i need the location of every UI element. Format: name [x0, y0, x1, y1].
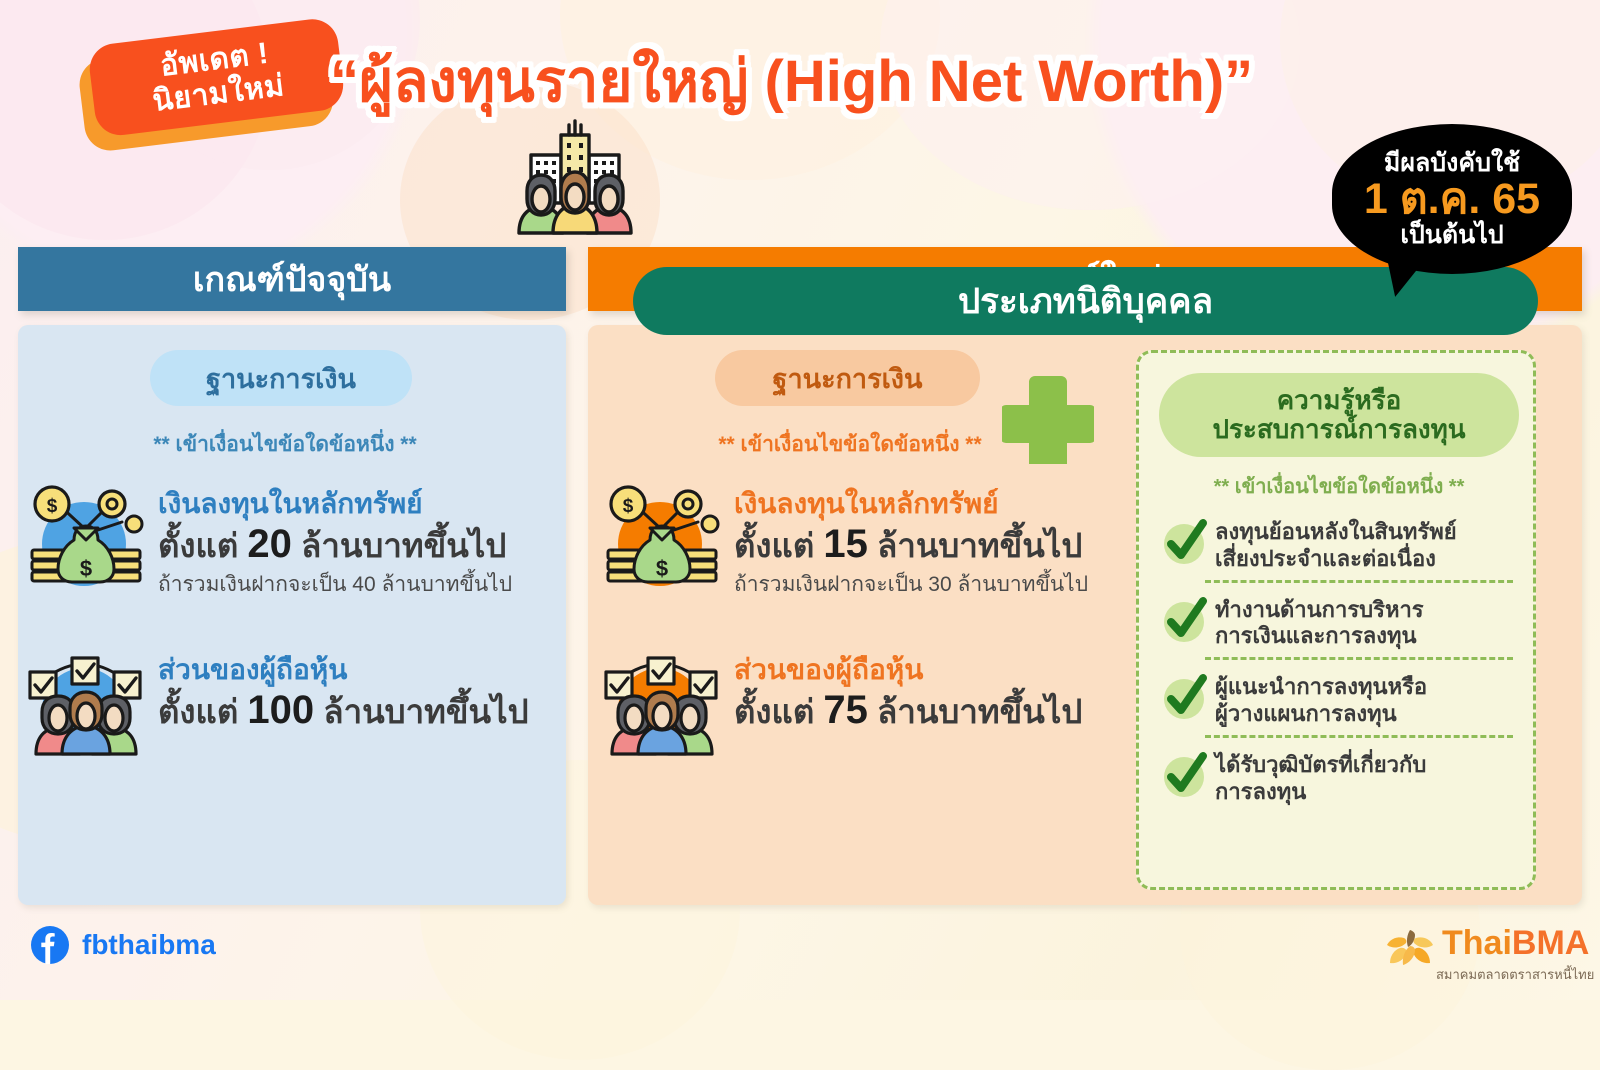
plus-icon — [1002, 372, 1094, 464]
list-item-text: ได้รับวุฒิบัตรที่เกี่ยวกับ การลงทุน — [1215, 747, 1426, 806]
list-item-line-2: การเงินและการลงทุน — [1215, 623, 1424, 650]
criterion-amount: ตั้งแต่ 20 ล้านบาทขึ้นไป — [158, 521, 512, 568]
money-bag-coins-icon: $ $ — [22, 482, 150, 592]
amount-prefix: ตั้งแต่ — [734, 527, 814, 564]
list-item-line-1: ลงทุนย้อนหลังในสินทรัพย์ — [1215, 519, 1457, 546]
knowledge-list: ลงทุนย้อนหลังในสินทรัพย์ เสี่ยงประจำและต… — [1157, 508, 1523, 810]
amount-number: 75 — [823, 688, 868, 732]
check-icon — [1157, 514, 1215, 570]
current-criteria-header: เกณฑ์ปัจจุบัน — [18, 247, 566, 311]
current-criterion-shareholders: ส่วนของผู้ถือหุ้น ตั้งแต่ 100 ล้านบาทขึ้… — [22, 648, 529, 758]
brand-name-part-1: Thai — [1442, 924, 1512, 962]
svg-text:$: $ — [656, 556, 668, 581]
current-criteria-panel — [18, 325, 566, 905]
facebook-icon[interactable] — [30, 925, 70, 965]
list-item-line-1: ได้รับวุฒิบัตรที่เกี่ยวกับ — [1215, 752, 1426, 779]
list-item-line-2: ผู้วางแผนการลงทุน — [1215, 701, 1427, 728]
knowledge-condition-note: ** เข้าเงื่อนไขข้อใดข้อหนึ่ง ** — [1139, 470, 1539, 502]
shareholders-checklist-icon — [22, 648, 150, 758]
list-separator — [1205, 657, 1513, 660]
criterion-subnote: ถ้ารวมเงินฝากจะเป็น 40 ล้านบาทขึ้นไป — [158, 572, 512, 597]
amount-suffix: ล้านบาทขึ้นไป — [323, 693, 528, 730]
criterion-heading: ส่วนของผู้ถือหุ้น — [158, 654, 529, 685]
current-condition-note: ** เข้าเงื่อนไขข้อใดข้อหนึ่ง ** — [60, 428, 510, 461]
knowledge-pill-line-2: ประสบการณ์การลงทุน — [1212, 415, 1465, 444]
amount-number: 100 — [247, 688, 314, 732]
amount-suffix: ล้านบาทขึ้นไป — [301, 527, 506, 564]
criterion-heading: เงินลงทุนในหลักทรัพย์ — [158, 488, 512, 519]
money-bag-coins-icon: $ $ — [598, 482, 726, 592]
amount-suffix: ล้านบาทขึ้นไป — [877, 693, 1082, 730]
criterion-text: เงินลงทุนในหลักทรัพย์ ตั้งแต่ 20 ล้านบาท… — [158, 482, 512, 597]
list-item-text: ทำงานด้านการบริหาร การเงินและการลงทุน — [1215, 592, 1424, 651]
new-criterion-shareholders: ส่วนของผู้ถือหุ้น ตั้งแต่ 75 ล้านบาทขึ้น… — [598, 648, 1082, 758]
list-item-text: ผู้แนะนำการลงทุนหรือ ผู้วางแผนการลงทุน — [1215, 669, 1427, 728]
current-financial-status-pill: ฐานะการเงิน — [150, 350, 412, 406]
criterion-amount: ตั้งแต่ 15 ล้านบาทขึ้นไป — [734, 521, 1088, 568]
amount-suffix: ล้านบาทขึ้นไป — [877, 527, 1082, 564]
thaibma-brand: ThaiBMA สมาคมตลาดตราสารหนี้ไทย — [1380, 922, 1580, 984]
brand-name-part-2: BMA — [1512, 924, 1589, 962]
criterion-heading: ส่วนของผู้ถือหุ้น — [734, 654, 1082, 685]
effective-date-bubble: มีผลบังคับใช้ 1 ต.ค. 65 เป็นต้นไป — [1332, 124, 1572, 299]
brand-subtitle: สมาคมตลาดตราสารหนี้ไทย — [1436, 964, 1594, 985]
amount-number: 15 — [823, 522, 868, 566]
list-item-text: ลงทุนย้อนหลังในสินทรัพย์ เสี่ยงประจำและต… — [1215, 514, 1457, 573]
bubble-body: มีผลบังคับใช้ 1 ต.ค. 65 เป็นต้นไป — [1332, 124, 1572, 274]
list-item-line-1: ทำงานด้านการบริหาร — [1215, 597, 1424, 624]
knowledge-pill-line-1: ความรู้หรือ — [1277, 386, 1401, 415]
list-item: ผู้แนะนำการลงทุนหรือ ผู้วางแผนการลงทุน — [1157, 663, 1523, 732]
svg-text:$: $ — [623, 496, 634, 517]
criterion-amount: ตั้งแต่ 75 ล้านบาทขึ้นไป — [734, 687, 1082, 734]
check-icon — [1157, 669, 1215, 725]
criterion-heading: เงินลงทุนในหลักทรัพย์ — [734, 488, 1088, 519]
shareholders-checklist-icon — [598, 648, 726, 758]
building-people-icon — [505, 117, 645, 237]
check-icon — [1157, 592, 1215, 648]
effective-label: มีผลบังคับใช้ — [1384, 150, 1520, 176]
amount-prefix: ตั้งแต่ — [158, 693, 238, 730]
facebook-handle[interactable]: fbthaibma — [82, 929, 216, 961]
effective-date: 1 ต.ค. 65 — [1364, 177, 1540, 222]
amount-prefix: ตั้งแต่ — [158, 527, 238, 564]
lotus-logo-icon — [1380, 922, 1440, 974]
current-criterion-investment: $ $ เงินลงทุนในหลักทรัพย์ ตั้งแต่ 20 ล้า… — [22, 482, 512, 597]
criterion-text: ส่วนของผู้ถือหุ้น ตั้งแต่ 100 ล้านบาทขึ้… — [158, 648, 529, 735]
criterion-text: เงินลงทุนในหลักทรัพย์ ตั้งแต่ 15 ล้านบาท… — [734, 482, 1088, 597]
facebook-row[interactable]: fbthaibma — [30, 925, 216, 965]
list-item-line-1: ผู้แนะนำการลงทุนหรือ — [1215, 674, 1427, 701]
amount-number: 20 — [247, 522, 292, 566]
list-item-line-2: เสี่ยงประจำและต่อเนื่อง — [1215, 546, 1457, 573]
brand-name: ThaiBMA — [1442, 924, 1589, 963]
knowledge-pill: ความรู้หรือ ประสบการณ์การลงทุน — [1159, 373, 1519, 457]
new-financial-status-pill: ฐานะการเงิน — [715, 350, 980, 406]
list-item: ได้รับวุฒิบัตรที่เกี่ยวกับ การลงทุน — [1157, 741, 1523, 810]
list-separator — [1205, 580, 1513, 583]
new-criterion-investment: $ $ เงินลงทุนในหลักทรัพย์ ตั้งแต่ 15 ล้า… — [598, 482, 1088, 597]
svg-text:$: $ — [47, 496, 58, 517]
criterion-subnote: ถ้ารวมเงินฝากจะเป็น 30 ล้านบาทขึ้นไป — [734, 572, 1088, 597]
list-item: ทำงานด้านการบริหาร การเงินและการลงทุน — [1157, 586, 1523, 655]
list-separator — [1205, 735, 1513, 738]
effective-onward: เป็นต้นไป — [1400, 222, 1503, 248]
entity-type-banner: ประเภทนิติบุคคล — [505, 115, 1045, 240]
criterion-text: ส่วนของผู้ถือหุ้น ตั้งแต่ 75 ล้านบาทขึ้น… — [734, 648, 1082, 735]
update-badge: อัพเดต ! นิยามใหม่ — [75, 17, 345, 148]
svg-text:$: $ — [80, 556, 92, 581]
knowledge-experience-box: ความรู้หรือ ประสบการณ์การลงทุน ** เข้าเง… — [1136, 350, 1536, 890]
amount-prefix: ตั้งแต่ — [734, 693, 814, 730]
criterion-amount: ตั้งแต่ 100 ล้านบาทขึ้นไป — [158, 687, 529, 734]
list-item-line-2: การลงทุน — [1215, 779, 1426, 806]
list-item: ลงทุนย้อนหลังในสินทรัพย์ เสี่ยงประจำและต… — [1157, 508, 1523, 577]
check-icon — [1157, 747, 1215, 803]
